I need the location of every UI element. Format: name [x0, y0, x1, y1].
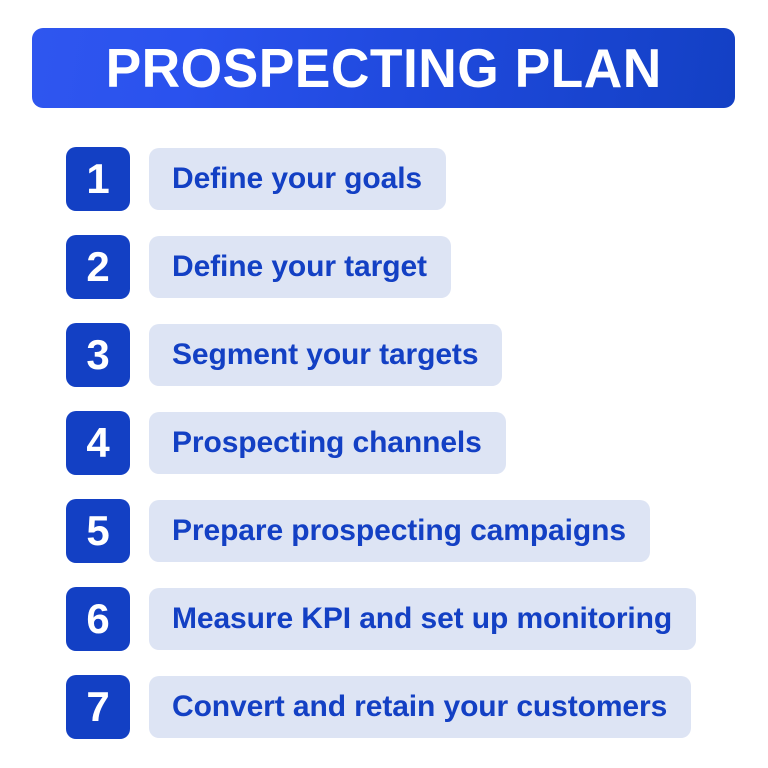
list-item: 4 Prospecting channels — [0, 411, 768, 475]
list-item: 7 Convert and retain your customers — [0, 675, 768, 739]
step-number-badge: 7 — [66, 675, 130, 739]
list-item: 1 Define your goals — [0, 147, 768, 211]
list-item: 6 Measure KPI and set up monitoring — [0, 587, 768, 651]
step-label-pill: Define your target — [149, 236, 451, 298]
list-item: 3 Segment your targets — [0, 323, 768, 387]
step-number-badge: 2 — [66, 235, 130, 299]
step-label-pill: Segment your targets — [149, 324, 502, 386]
step-number-badge: 5 — [66, 499, 130, 563]
step-number-badge: 3 — [66, 323, 130, 387]
step-label-pill: Measure KPI and set up monitoring — [149, 588, 696, 650]
list-item: 5 Prepare prospecting campaigns — [0, 499, 768, 563]
prospecting-plan-poster: PROSPECTING PLAN 1 Define your goals 2 D… — [0, 0, 768, 768]
step-label-pill: Prepare prospecting campaigns — [149, 500, 650, 562]
page-title: PROSPECTING PLAN — [105, 41, 661, 96]
step-label-pill: Prospecting channels — [149, 412, 506, 474]
step-number-badge: 6 — [66, 587, 130, 651]
step-label-pill: Convert and retain your customers — [149, 676, 691, 738]
step-number-badge: 4 — [66, 411, 130, 475]
list-item: 2 Define your target — [0, 235, 768, 299]
step-label-pill: Define your goals — [149, 148, 446, 210]
title-banner: PROSPECTING PLAN — [32, 28, 735, 108]
step-number-badge: 1 — [66, 147, 130, 211]
steps-list: 1 Define your goals 2 Define your target… — [0, 147, 768, 739]
